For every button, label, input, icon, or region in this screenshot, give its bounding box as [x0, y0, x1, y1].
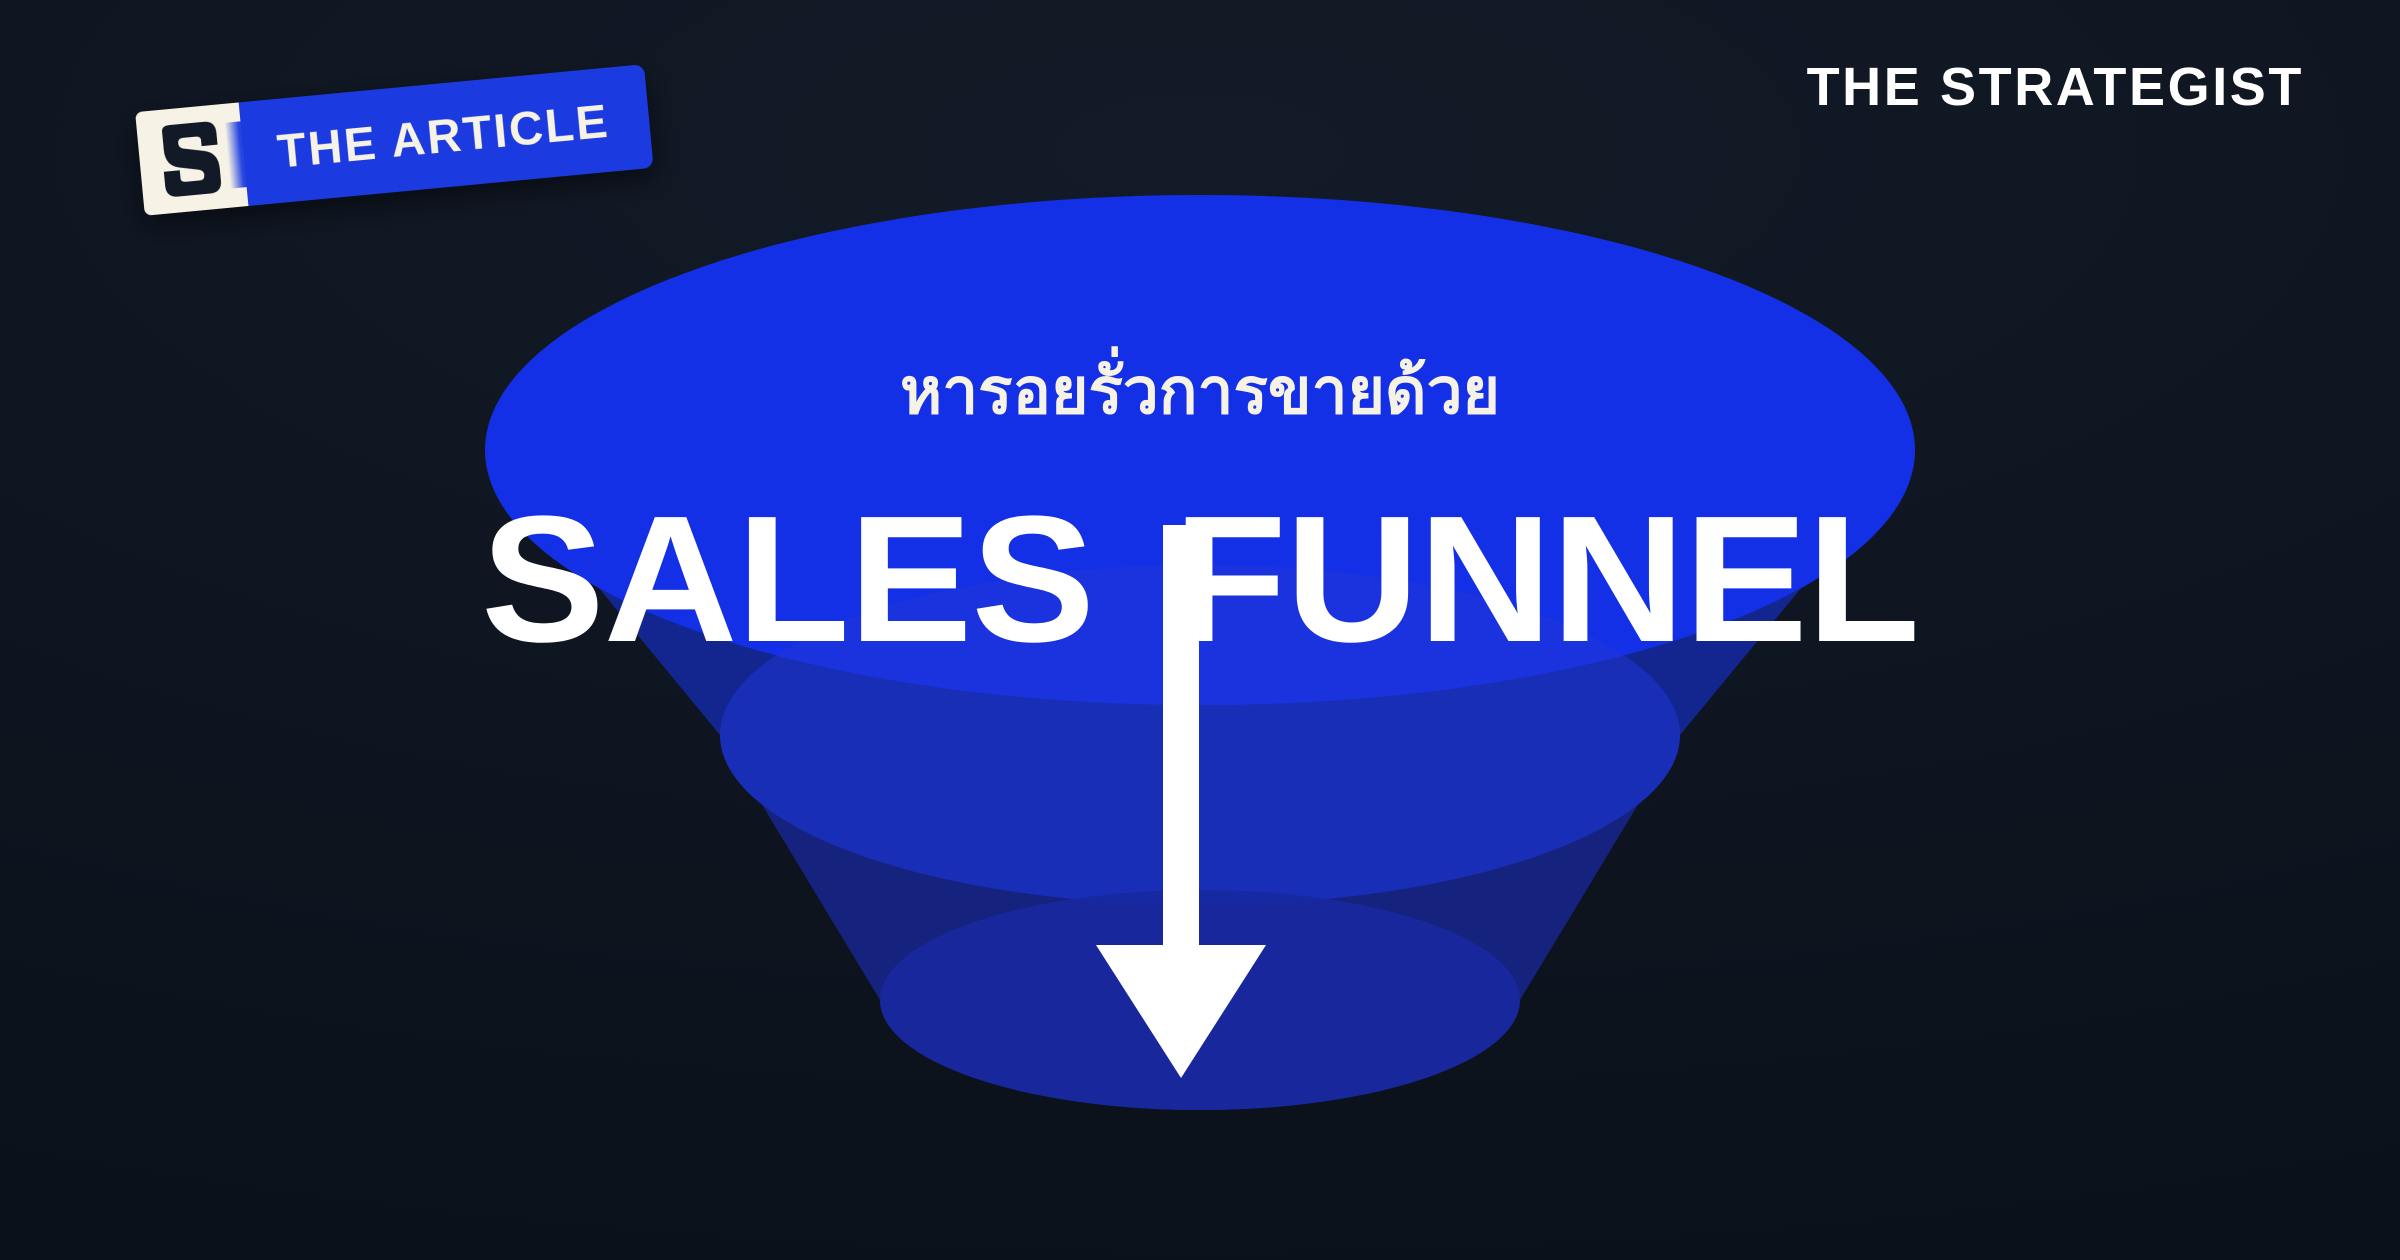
strategist-s-logo	[135, 102, 248, 215]
hero-headline: SALES FUNNEL	[0, 490, 2400, 670]
brand-wordmark: THE STRATEGIST	[1807, 60, 2304, 114]
article-badge[interactable]: THE ARTICLE	[135, 64, 654, 216]
s-glyph-icon	[157, 118, 226, 199]
hero-kicker-thai: หารอยรั่วการขายด้วย	[0, 355, 2400, 429]
funnel-stage-conversion	[880, 890, 1520, 1110]
article-badge-label: THE ARTICLE	[275, 96, 611, 174]
poster-canvas: THE ARTICLE THE STRATEGIST หารอยรั่วการข…	[0, 0, 2400, 1260]
article-badge-bar: THE ARTICLE	[239, 64, 654, 206]
